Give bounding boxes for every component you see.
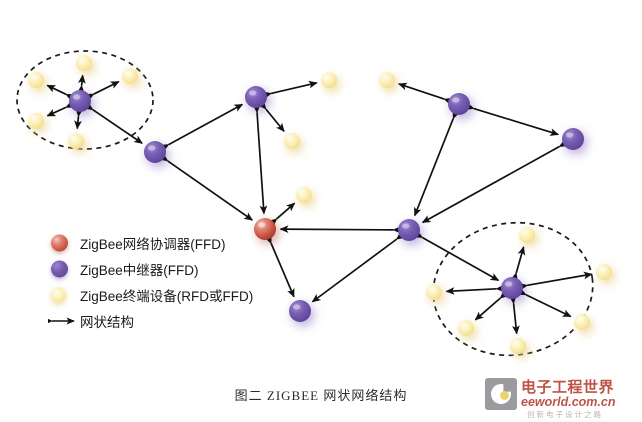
node-router — [69, 90, 91, 112]
node-end_device — [426, 284, 442, 300]
eeworld-logo-icon — [485, 378, 517, 410]
watermark-english: eeworld.com.cn — [521, 395, 615, 409]
yellow-sphere-icon — [46, 284, 80, 306]
legend-item-end-device: ZigBee终端设备(RFD或FFD) — [46, 282, 296, 308]
network-link — [257, 112, 264, 213]
node-highlight — [566, 132, 573, 137]
node-router — [144, 141, 166, 163]
watermark-subtitle: 创新电子设计之路 — [527, 409, 603, 420]
node-router — [398, 219, 420, 241]
node-router — [562, 128, 584, 150]
legend-label-router: ZigBee中继器(FFD) — [80, 259, 199, 279]
node-router — [501, 277, 523, 299]
node-highlight — [452, 97, 459, 102]
node-end_device — [321, 72, 337, 88]
legend-item-mesh-link: 网状结构 — [46, 308, 296, 334]
legend: ZigBee网络协调器(FFD) ZigBee中继器(FFD) ZigBee终端… — [46, 230, 296, 334]
network-link — [281, 229, 394, 230]
network-link — [277, 203, 295, 219]
network-link — [423, 147, 560, 223]
node-highlight — [249, 90, 256, 95]
node-router — [448, 93, 470, 115]
node-end_device — [574, 314, 590, 330]
network-diagram — [0, 0, 642, 422]
node-end_device — [519, 227, 535, 243]
network-link — [514, 303, 517, 333]
network-link — [169, 104, 243, 144]
network-link — [266, 109, 284, 131]
network-link — [271, 83, 317, 94]
node-highlight — [402, 223, 409, 228]
network-link — [527, 274, 591, 285]
network-link — [82, 75, 83, 85]
network-link — [399, 84, 444, 99]
network-link — [415, 118, 454, 215]
network-link — [47, 85, 66, 94]
node-end_device — [28, 113, 44, 129]
node-end_device — [284, 133, 300, 149]
legend-label-end-device: ZigBee终端设备(RFD或FFD) — [80, 285, 253, 305]
red-sphere-icon — [46, 232, 80, 254]
purple-sphere-icon — [46, 258, 80, 280]
node-highlight — [73, 94, 80, 99]
node-end_device — [510, 338, 526, 354]
node-end_device — [379, 72, 395, 88]
network-link — [47, 107, 66, 115]
node-end_device — [596, 264, 612, 280]
node-end_device — [296, 187, 312, 203]
legend-label-coordinator: ZigBee网络协调器(FFD) — [80, 233, 226, 253]
zigbee-mesh-network-figure: ZigBee网络协调器(FFD) ZigBee中继器(FFD) ZigBee终端… — [0, 0, 642, 422]
network-link — [77, 116, 78, 128]
network-link — [168, 161, 253, 220]
network-link — [474, 109, 558, 135]
node-router — [245, 86, 267, 108]
network-link — [94, 82, 119, 94]
node-highlight — [258, 222, 265, 227]
network-link — [446, 289, 496, 292]
double-arrow-icon — [46, 310, 80, 332]
node-end_device — [122, 68, 138, 84]
network-link — [312, 239, 396, 302]
legend-item-router: ZigBee中继器(FFD) — [46, 256, 296, 282]
node-end_device — [68, 133, 84, 149]
network-link — [423, 238, 499, 281]
node-end_device — [28, 72, 44, 88]
network-link — [516, 247, 523, 273]
node-end_device — [76, 55, 92, 71]
network-link — [526, 295, 571, 317]
watermark: 电子工程世界 eeworld.com.cn 创新电子设计之路 — [485, 376, 635, 420]
network-link — [93, 110, 142, 144]
legend-item-coordinator: ZigBee网络协调器(FFD) — [46, 230, 296, 256]
network-link — [475, 298, 500, 320]
watermark-chinese: 电子工程世界 — [521, 376, 614, 397]
legend-label-mesh-link: 网状结构 — [80, 311, 134, 331]
node-highlight — [148, 145, 155, 150]
node-end_device — [458, 320, 474, 336]
node-highlight — [505, 281, 512, 286]
